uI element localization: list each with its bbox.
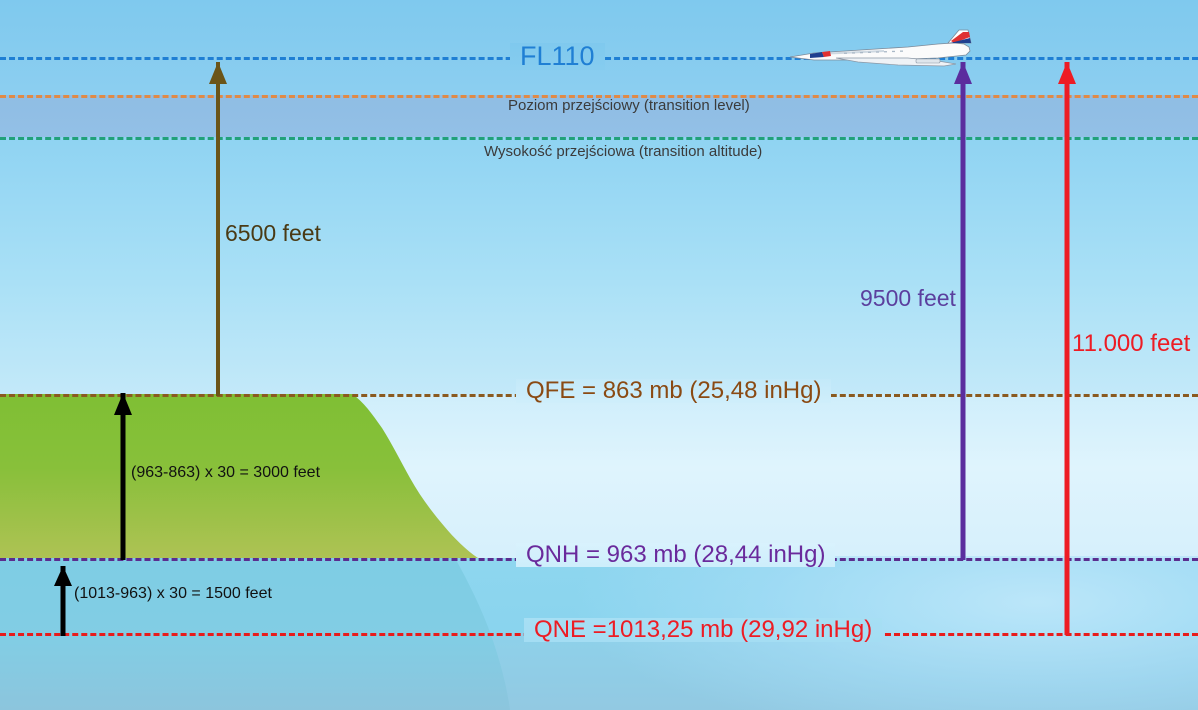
arrow-head-up-icon — [114, 393, 132, 415]
arrow-shaft — [216, 62, 220, 396]
sky-middle-band — [0, 137, 1198, 394]
concorde-aircraft-icon — [788, 28, 980, 72]
line-transition-altitude — [0, 137, 1198, 140]
altimetry-diagram: FL110 Poziom przejściowy (transition lev… — [0, 0, 1198, 710]
label-9500-feet: 9500 feet — [860, 287, 956, 310]
label-transition-altitude: Wysokość przejściowa (transition altitud… — [484, 144, 762, 159]
arrow-shaft — [121, 393, 126, 560]
label-qne: QNE =1013,25 mb (29,92 inHg) — [524, 618, 882, 642]
arrow-9500-feet — [956, 62, 970, 560]
label-qnh-to-qne-calc: (1013-963) x 30 = 1500 feet — [74, 586, 272, 602]
label-fl110: FL110 — [510, 43, 605, 70]
label-11000-feet: 11.000 feet — [1072, 332, 1190, 356]
label-qfe: QFE = 863 mb (25,48 inHg) — [516, 379, 831, 403]
arrow-3000-feet — [116, 393, 130, 560]
arrow-head-up-icon — [54, 566, 72, 586]
arrow-head-up-icon — [209, 62, 227, 84]
arrow-1500-feet — [56, 566, 70, 636]
label-6500-feet: 6500 feet — [225, 222, 321, 245]
label-qnh: QNH = 963 mb (28,44 inHg) — [516, 543, 835, 567]
arrow-6500-feet — [211, 62, 225, 396]
arrow-shaft — [1065, 62, 1070, 635]
label-transition-level: Poziom przejściowy (transition level) — [508, 98, 750, 113]
arrow-shaft — [961, 62, 966, 560]
arrow-head-up-icon — [1058, 62, 1076, 84]
label-qfe-to-qnh-calc: (963-863) x 30 = 3000 feet — [131, 465, 320, 481]
